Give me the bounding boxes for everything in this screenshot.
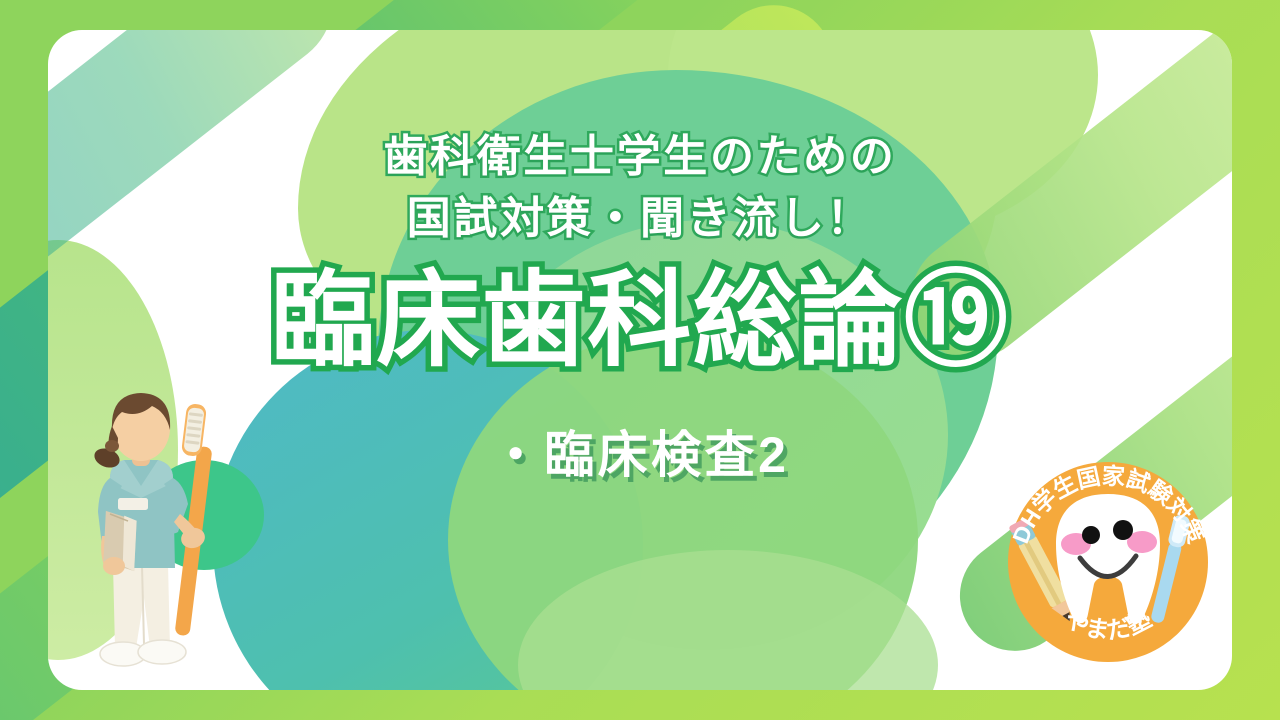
main-title: 臨床歯科総論⑲ [48, 263, 1232, 379]
subtitle-line-2: 国試対策・聞き流し！ [48, 188, 1232, 250]
video-thumbnail: 歯科衛生士学生のための 国試対策・聞き流し！ 臨床歯科総論⑲ ・臨床検査2 [0, 0, 1280, 720]
eye-right [1113, 520, 1133, 540]
subtitle-line-1: 歯科衛生士学生のための [48, 126, 1232, 188]
eye-left [1082, 526, 1100, 544]
channel-logo-badge[interactable]: DH学生国家試験対策 やまだ塾 [1002, 456, 1214, 668]
badge-svg: DH学生国家試験対策 やまだ塾 [1002, 456, 1214, 668]
dental-hygienist-illustration [66, 386, 251, 686]
content-panel: 歯科衛生士学生のための 国試対策・聞き流し！ 臨床歯科総論⑲ ・臨床検査2 [48, 30, 1232, 690]
hygienist-svg [66, 386, 251, 686]
